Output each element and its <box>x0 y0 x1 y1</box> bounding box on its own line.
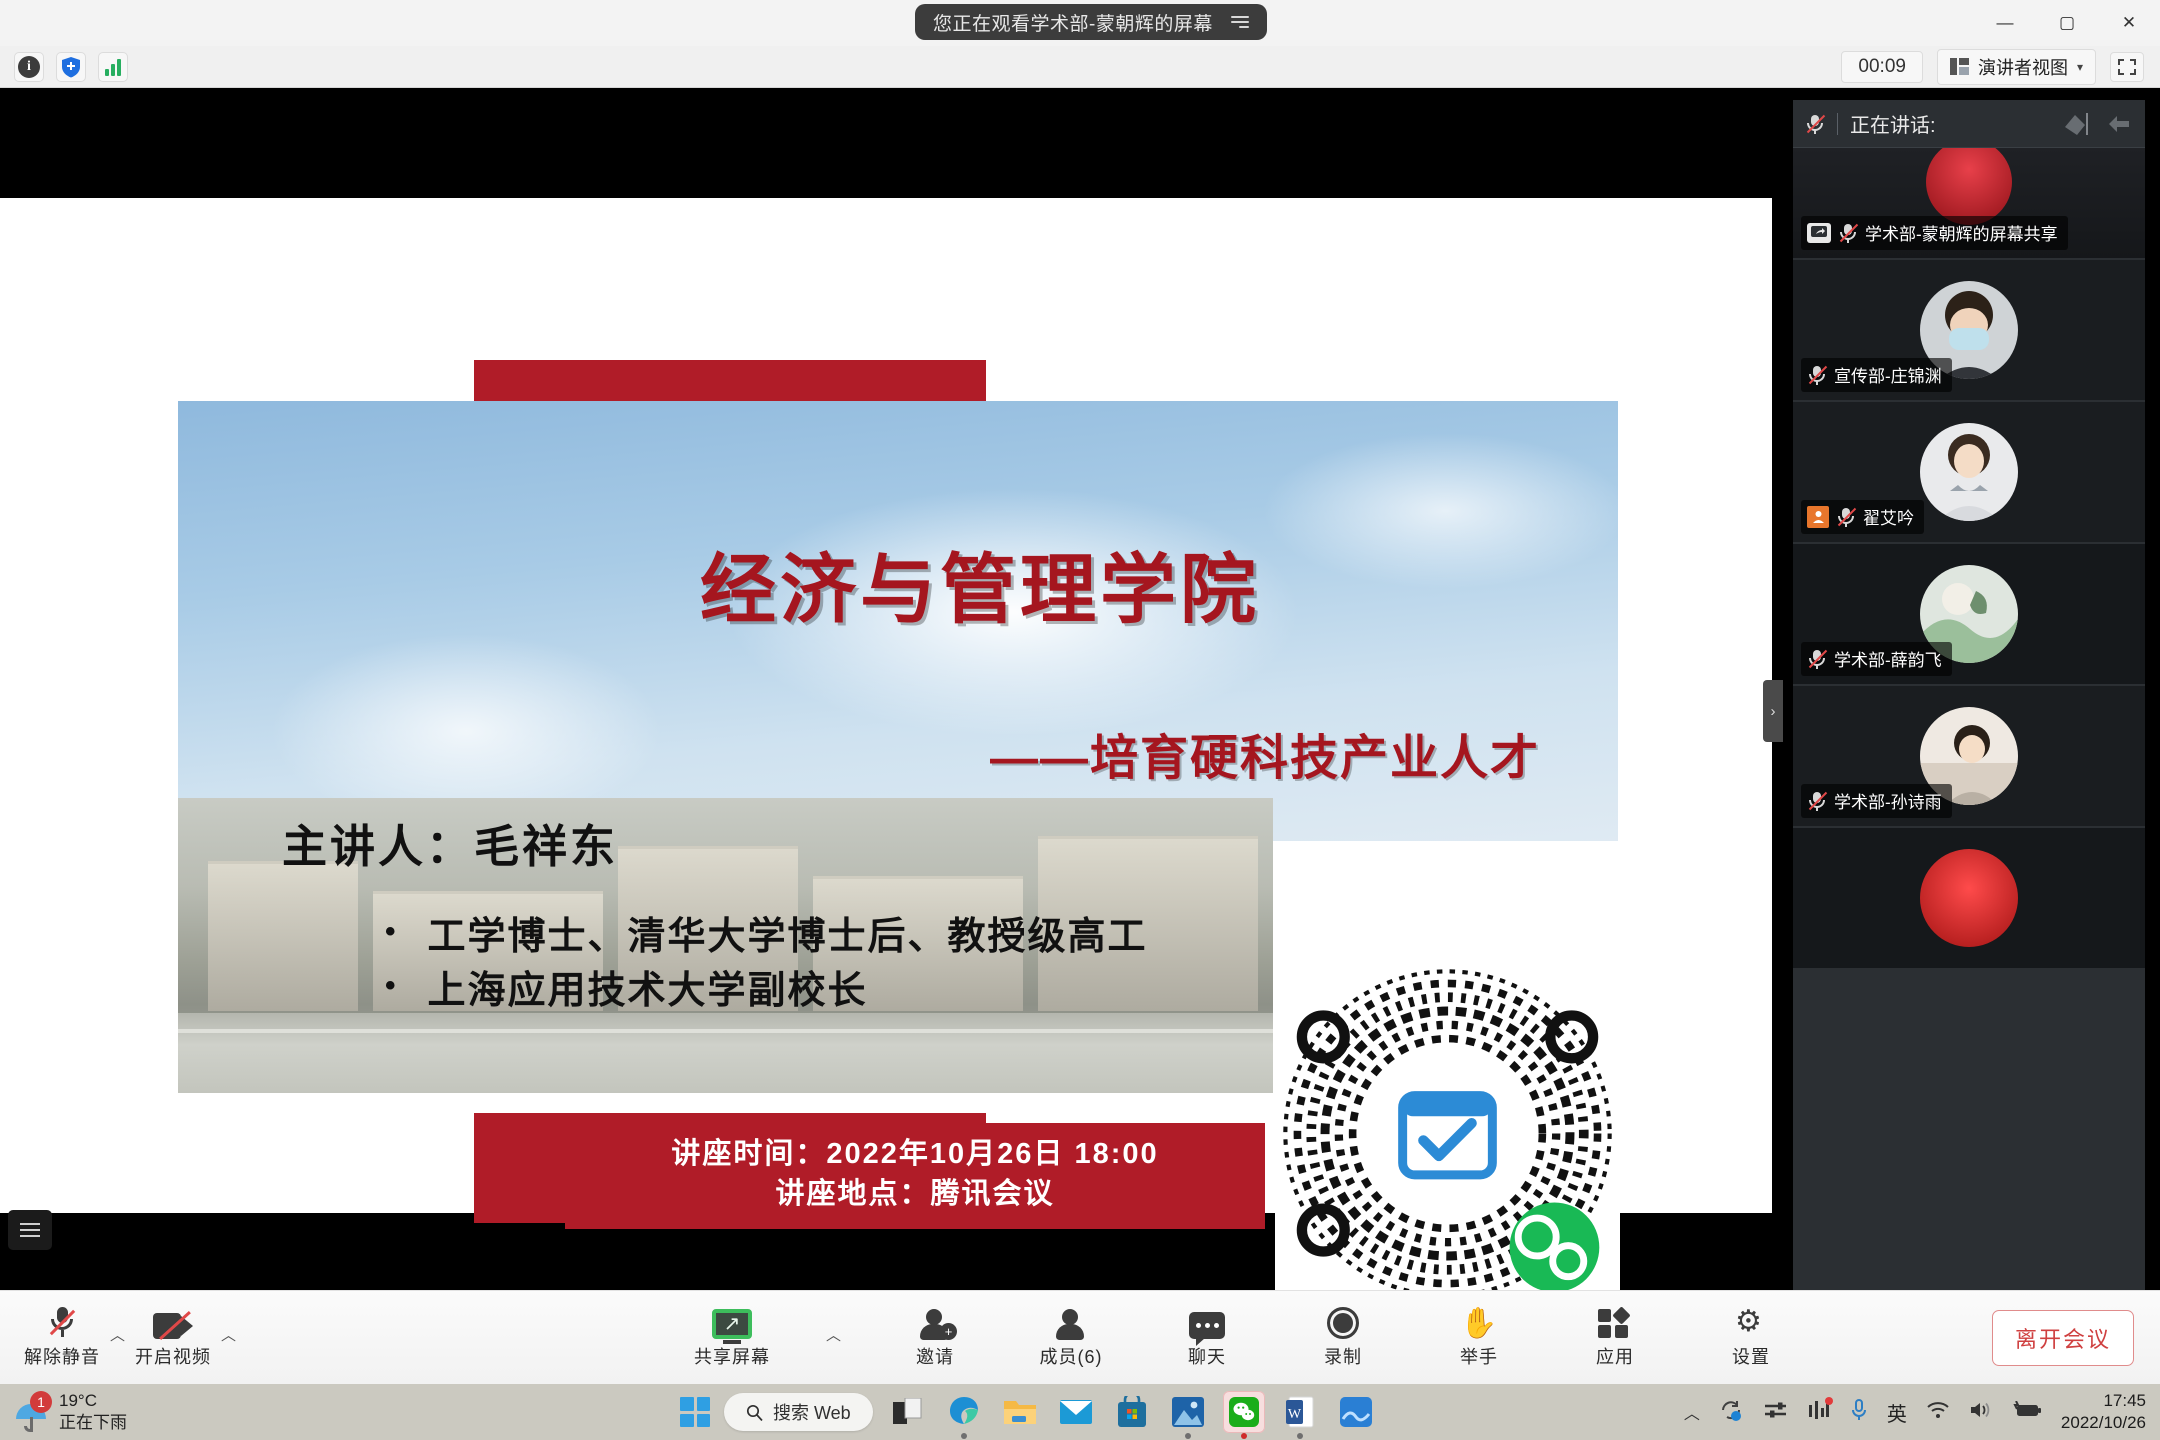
view-mode-label: 演讲者视图 <box>1978 54 2068 80</box>
task-view-icon[interactable] <box>887 1391 929 1433</box>
record-button[interactable]: 录制 <box>1301 1307 1385 1369</box>
microphone-muted-icon <box>1807 790 1827 812</box>
toolbar-left-icons: i <box>0 52 128 82</box>
screen-share-notice-label: 您正在观看学术部-蒙朝辉的屏幕 <box>933 9 1213 36</box>
window-titlebar: 您正在观看学术部-蒙朝辉的屏幕 — ▢ ✕ <box>0 0 2160 46</box>
start-video-label: 开启视频 <box>135 1343 211 1369</box>
weather-desc: 正在下雨 <box>59 1412 127 1434</box>
share-screen-label: 共享屏幕 <box>694 1343 770 1369</box>
meeting-icon[interactable] <box>1335 1391 1377 1433</box>
raise-hand-icon: ✋ <box>1460 1309 1497 1339</box>
participant-name: 学术部-蒙朝辉的屏幕共享 <box>1865 220 2058 245</box>
microphone-muted-icon <box>47 1307 77 1339</box>
search-input[interactable]: 搜索 Web <box>724 1393 873 1431</box>
slide-banner-time: 讲座时间：2022年10月26日 18:00 <box>565 1134 1265 1174</box>
raise-hand-button[interactable]: ✋ 举手 <box>1437 1309 1521 1369</box>
participant-tile[interactable]: 宣传部-庄锦渊 <box>1793 260 2145 402</box>
notification-badge: 1 <box>30 1391 52 1413</box>
host-badge-icon <box>1807 506 1829 528</box>
chat-icon <box>1189 1312 1225 1339</box>
photos-icon[interactable] <box>1167 1391 1209 1433</box>
settings-button[interactable]: ⚙ 设置 <box>1709 1307 1793 1369</box>
maximize-button[interactable]: ▢ <box>2036 0 2098 46</box>
microphone-muted-icon <box>1807 648 1827 670</box>
slide-bullet: 工学博士、清华大学博士后、教授级高工 <box>385 911 1385 965</box>
system-tray: ︿ 英 17:45 <box>1684 1390 2146 1434</box>
record-icon <box>1327 1307 1359 1339</box>
taskbar-apps: 搜索 Web <box>680 1391 1377 1433</box>
meeting-bar-center: ↗ 共享屏幕 ︿ + 邀请 成员(6) 聊天 录制 ✋ 举手 <box>690 1307 1793 1369</box>
start-video-button[interactable]: 开启视频 <box>131 1313 215 1369</box>
participant-name: 学术部-孙诗雨 <box>1834 788 1942 813</box>
slide-info-banner: 讲座时间：2022年10月26日 18:00 讲座地点：腾讯会议 <box>565 1123 1265 1229</box>
info-icon[interactable]: i <box>14 52 44 82</box>
participant-nametag: 学术部-蒙朝辉的屏幕共享 <box>1801 216 2068 250</box>
speaking-header: 正在讲话: <box>1793 100 2145 148</box>
slide-speaker: 主讲人：毛祥东 <box>282 810 618 875</box>
battery-icon[interactable] <box>2012 1401 2042 1424</box>
signal-bars-icon[interactable] <box>98 52 128 82</box>
slide-bullet-text: 上海应用技术大学副校长 <box>428 965 868 1019</box>
panel-header-actions[interactable] <box>2063 111 2133 137</box>
avatar <box>1920 423 2018 521</box>
microphone-muted-icon <box>1836 506 1856 528</box>
members-label: 成员(6) <box>1040 1343 1103 1369</box>
slide-bullets: 工学博士、清华大学博士后、教授级高工 上海应用技术大学副校长 <box>385 911 1385 1019</box>
panel-collapse-toggle[interactable]: › <box>1763 680 1783 742</box>
slide-title: 经济与管理学院 <box>480 528 1480 638</box>
mail-icon[interactable] <box>1055 1391 1097 1433</box>
edge-icon[interactable] <box>943 1391 985 1433</box>
apps-button[interactable]: 应用 <box>1573 1309 1657 1369</box>
participant-name: 学术部-薛韵飞 <box>1834 646 1942 671</box>
clock-date: 2022/10/26 <box>2061 1412 2146 1434</box>
participant-nametag: 翟艾吟 <box>1801 500 1924 534</box>
camera-off-icon <box>153 1313 193 1339</box>
audio-options-chevron-icon[interactable]: ︿ <box>110 1324 125 1369</box>
participant-tile[interactable]: 学术部-孙诗雨 <box>1793 686 2145 828</box>
meeting-toolbar: i 00:09 演讲者视图 ▾ <box>0 46 2160 88</box>
screen-share-icon <box>1807 223 1831 243</box>
slide-pager-button[interactable] <box>8 1210 52 1250</box>
microphone-muted-icon <box>1807 364 1827 386</box>
audio-meter-icon[interactable] <box>1807 1399 1831 1426</box>
gear-icon: ⚙ <box>1735 1307 1767 1339</box>
wechat-icon[interactable] <box>1223 1391 1265 1433</box>
participant-tile-screenshare[interactable]: 学术部-蒙朝辉的屏幕共享 <box>1793 148 2145 260</box>
microphone-icon[interactable] <box>1850 1398 1868 1427</box>
shared-screen-stage: 经济与管理学院 ——培育硬科技产业人才 主讲人：毛祥东 工学博士、清华大学博士后… <box>0 88 1772 1294</box>
slide-banner-place: 讲座地点：腾讯会议 <box>565 1174 1265 1214</box>
close-button[interactable]: ✕ <box>2098 0 2160 46</box>
participant-nametag: 宣传部-庄锦渊 <box>1801 358 1952 392</box>
windows-taskbar: 1 19°C 正在下雨 搜索 Web <box>0 1384 2160 1440</box>
fullscreen-icon <box>2118 59 2136 75</box>
slide-bullet: 上海应用技术大学副校长 <box>385 965 1385 1019</box>
meeting-timer: 00:09 <box>1841 51 1923 83</box>
word-icon[interactable]: W <box>1279 1391 1321 1433</box>
share-options-chevron-icon[interactable]: ︿ <box>826 1324 841 1369</box>
speaker-view-icon <box>1950 58 1969 75</box>
chat-label: 聊天 <box>1188 1343 1226 1369</box>
unmute-button[interactable]: 解除静音 <box>20 1307 104 1369</box>
screen-share-notice[interactable]: 您正在观看学术部-蒙朝辉的屏幕 <box>915 4 1267 40</box>
apps-icon <box>1598 1309 1632 1339</box>
sliders-icon[interactable] <box>1764 1400 1788 1425</box>
view-mode-select[interactable]: 演讲者视图 ▾ <box>1937 49 2096 85</box>
share-screen-button[interactable]: ↗ 共享屏幕 <box>690 1309 774 1369</box>
participant-tile[interactable]: 学术部-薛韵飞 <box>1793 544 2145 686</box>
chat-button[interactable]: 聊天 <box>1165 1312 1249 1369</box>
umbrella-icon: 1 <box>14 1395 48 1429</box>
participant-name: 翟艾吟 <box>1863 504 1914 529</box>
notice-menu-icon[interactable] <box>1231 16 1249 28</box>
settings-label: 设置 <box>1732 1343 1770 1369</box>
invite-button[interactable]: + 邀请 <box>893 1309 977 1369</box>
avatar <box>1920 849 2018 947</box>
invite-label: 邀请 <box>916 1343 954 1369</box>
apps-label: 应用 <box>1596 1343 1634 1369</box>
microphone-muted-icon <box>1805 113 1825 135</box>
shield-plus-icon[interactable] <box>56 52 86 82</box>
raise-hand-label: 举手 <box>1460 1343 1498 1369</box>
presentation-slide: 经济与管理学院 ——培育硬科技产业人才 主讲人：毛祥东 工学博士、清华大学博士后… <box>0 198 1772 1213</box>
meeting-window: 您正在观看学术部-蒙朝辉的屏幕 — ▢ ✕ i 00:09 演讲者视图 ▾ <box>0 0 2160 1440</box>
speaking-label: 正在讲话: <box>1850 109 1936 138</box>
slide-subtitle: ——培育硬科技产业人才 <box>700 718 1540 788</box>
meeting-bar-left: 解除静音 ︿ 开启视频 ︿ <box>0 1307 236 1369</box>
fullscreen-button[interactable] <box>2110 52 2144 82</box>
ime-icon[interactable]: 英 <box>1887 1398 1907 1427</box>
start-button[interactable] <box>680 1397 710 1427</box>
chevron-down-icon: ▾ <box>2077 60 2083 74</box>
clock-time: 17:45 <box>2061 1390 2146 1412</box>
search-icon <box>746 1404 763 1421</box>
store-icon[interactable] <box>1111 1391 1153 1433</box>
wifi-icon[interactable] <box>1926 1400 1950 1425</box>
participant-tile[interactable] <box>1793 828 2145 970</box>
toolbar-right-controls: 00:09 演讲者视图 ▾ <box>1841 49 2160 85</box>
participant-name: 宣传部-庄锦渊 <box>1834 362 1942 387</box>
leave-meeting-button[interactable]: 离开会议 <box>1992 1310 2134 1366</box>
weather-widget[interactable]: 1 19°C 正在下雨 <box>0 1390 127 1434</box>
avatar <box>1926 148 2012 225</box>
participant-nametag: 学术部-孙诗雨 <box>1801 784 1952 818</box>
unmute-label: 解除静音 <box>24 1343 100 1369</box>
weather-temp: 19°C <box>59 1390 127 1412</box>
slide-bullet-text: 工学博士、清华大学博士后、教授级高工 <box>428 911 1148 965</box>
participant-tile[interactable]: 翟艾吟 <box>1793 402 2145 544</box>
weather-text: 19°C 正在下雨 <box>59 1390 127 1434</box>
members-button[interactable]: 成员(6) <box>1029 1309 1113 1369</box>
window-controls: — ▢ ✕ <box>1974 0 2160 46</box>
microphone-muted-icon <box>1838 222 1858 244</box>
sync-icon[interactable] <box>1719 1398 1745 1427</box>
chevron-up-icon[interactable]: ︿ <box>1684 1400 1700 1424</box>
participants-panel: 正在讲话: 学术部-蒙朝辉的屏幕共享 <box>1793 100 2145 1290</box>
invite-icon: + <box>917 1309 953 1339</box>
members-icon <box>1053 1309 1089 1339</box>
wechat-qr-code <box>1275 961 1620 1306</box>
share-screen-icon: ↗ <box>712 1309 752 1339</box>
svg-text:W: W <box>1288 1407 1302 1422</box>
taskbar-clock[interactable]: 17:45 2022/10/26 <box>2061 1390 2146 1434</box>
meeting-bar-right: 离开会议 <box>1992 1310 2134 1366</box>
minimize-button[interactable]: — <box>1974 0 2036 46</box>
meeting-control-bar: 解除静音 ︿ 开启视频 ︿ ↗ 共享屏幕 ︿ + 邀请 成员(6) <box>0 1290 2160 1384</box>
file-explorer-icon[interactable] <box>999 1391 1041 1433</box>
speaker-icon[interactable] <box>1969 1400 1993 1425</box>
record-label: 录制 <box>1324 1343 1362 1369</box>
video-options-chevron-icon[interactable]: ︿ <box>221 1324 236 1369</box>
search-placeholder: 搜索 Web <box>773 1399 851 1425</box>
participant-nametag: 学术部-薛韵飞 <box>1801 642 1952 676</box>
